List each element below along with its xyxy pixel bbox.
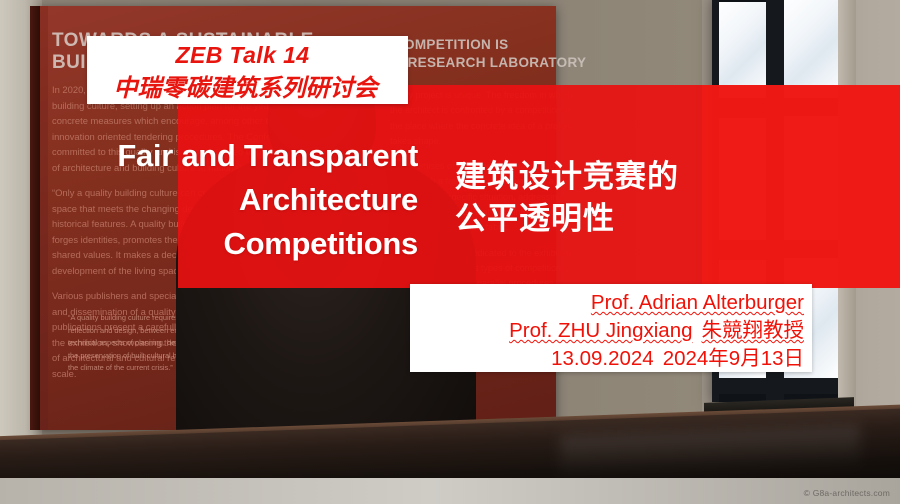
poster-left-edge <box>30 6 40 430</box>
presentation-slide: TOWARDS A SUSTAINABLE BUILDING CULTURE C… <box>0 0 900 504</box>
speaker-row-1: Prof. Adrian Alterburger <box>410 293 804 314</box>
speaker-2-name-en: Prof. ZHU Jingxiang <box>509 319 692 342</box>
headline-english: Fair and Transparent Architecture Compet… <box>40 134 418 266</box>
talk-series-title-en: ZEB Talk 14 <box>87 42 398 69</box>
poster-heading-right: COMPETITION IS A RESEARCH LABORATORY <box>394 36 624 71</box>
speaker-row-2: Prof. ZHU Jingxiang朱競翔教授 <box>410 321 804 342</box>
speaker-row-3: 13.09.20242024年9月13日 <box>410 349 804 370</box>
event-date-en: 13.09.2024 <box>551 347 654 370</box>
headline-chinese-line-1: 建筑设计竞赛的 <box>455 156 795 198</box>
speaker-info-box: Prof. Adrian Alterburger Prof. ZHU Jingx… <box>410 284 812 372</box>
footer-strip <box>0 478 900 504</box>
copyright-notice: © G8a-architects.com <box>804 488 890 498</box>
headline-chinese-line-2: 公平透明性 <box>455 198 795 240</box>
speaker-2-name-zh: 朱競翔教授 <box>702 319 805 342</box>
talk-series-title-zh: 中瑞零碳建筑系列研讨会 <box>87 68 404 103</box>
event-date-zh: 2024年9月13日 <box>663 347 804 370</box>
talk-series-title-box: ZEB Talk 14 中瑞零碳建筑系列研讨会 <box>87 36 408 104</box>
speaker-1-name: Prof. Adrian Alterburger <box>591 291 804 314</box>
window-frame-bottom <box>712 378 846 394</box>
headline-chinese: 建筑设计竞赛的 公平透明性 <box>455 156 795 240</box>
